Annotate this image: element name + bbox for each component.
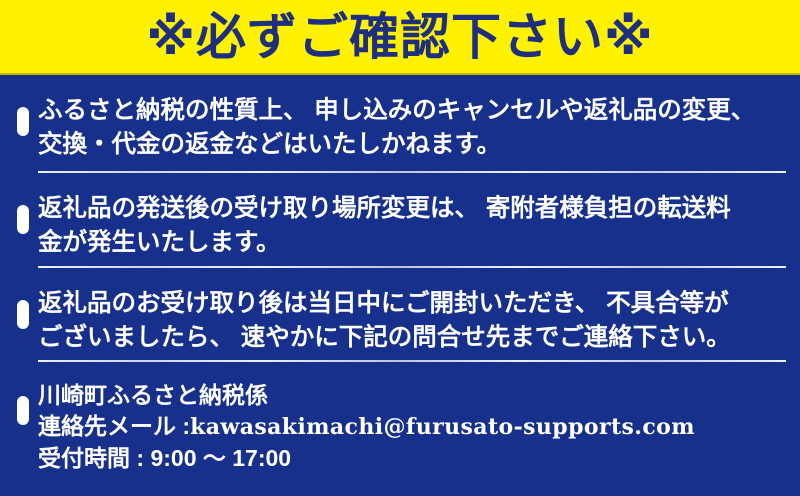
contact-email-row: 連絡先メール :kawasakimachi@furusato-supports.… — [38, 411, 792, 443]
notice-divider — [38, 266, 786, 268]
notice-body: ふるさと納税の性質上、 申し込みのキャンセルや返礼品の変更、 交換・代金の返金な… — [0, 75, 800, 496]
notice-line: 返礼品のお受け取り後は当日中にご開封いただき、 不具合等が — [38, 287, 792, 321]
pill-bullet-icon — [17, 300, 29, 329]
notice-item: ふるさと納税の性質上、 申し込みのキャンセルや返礼品の変更、 交換・代金の返金な… — [0, 94, 800, 162]
notice-line: ございましたら、 速やかに下記の問合せ先までご連絡下さい。 — [38, 321, 792, 355]
pill-bullet-icon — [17, 205, 29, 234]
contact-hours-value: 9:00 ～ 17:00 — [150, 445, 291, 471]
notice-divider — [38, 360, 786, 362]
notice-line: 交換・代金の返金などはいたしかねます。 — [38, 128, 792, 162]
contact-email-address[interactable]: kawasakimachi@furusato-supports.com — [190, 414, 695, 440]
notice-item: 返礼品の発送後の受け取り場所変更は、 寄附者様負担の転送料 金が発生いたします。 — [0, 192, 800, 260]
notice-divider — [38, 171, 786, 173]
notice-item: 返礼品のお受け取り後は当日中にご開封いただき、 不具合等が ございましたら、 速… — [0, 287, 800, 355]
notice-line: 返礼品の発送後の受け取り場所変更は、 寄附者様負担の転送料 — [38, 192, 792, 226]
notice-line: 金が発生いたします。 — [38, 226, 792, 260]
contact-info-block: 川崎町ふるさと納税係 連絡先メール :kawasakimachi@furusat… — [0, 380, 800, 474]
notice-line: ふるさと納税の性質上、 申し込みのキャンセルや返礼品の変更、 — [38, 94, 792, 128]
banner-header: ※必ずご確認下さい※ — [0, 0, 800, 75]
banner-title: ※必ずご確認下さい※ — [146, 11, 653, 63]
contact-hours-row: 受付時間 : 9:00 ～ 17:00 — [38, 443, 792, 474]
pill-bullet-icon — [17, 396, 29, 425]
contact-department: 川崎町ふるさと納税係 — [38, 380, 792, 411]
pill-bullet-icon — [17, 107, 29, 136]
contact-email-label: 連絡先メール : — [38, 413, 190, 439]
important-notice-banner: ※必ずご確認下さい※ ふるさと納税の性質上、 申し込みのキャンセルや返礼品の変更… — [0, 0, 800, 496]
contact-hours-label: 受付時間 : — [38, 445, 144, 471]
